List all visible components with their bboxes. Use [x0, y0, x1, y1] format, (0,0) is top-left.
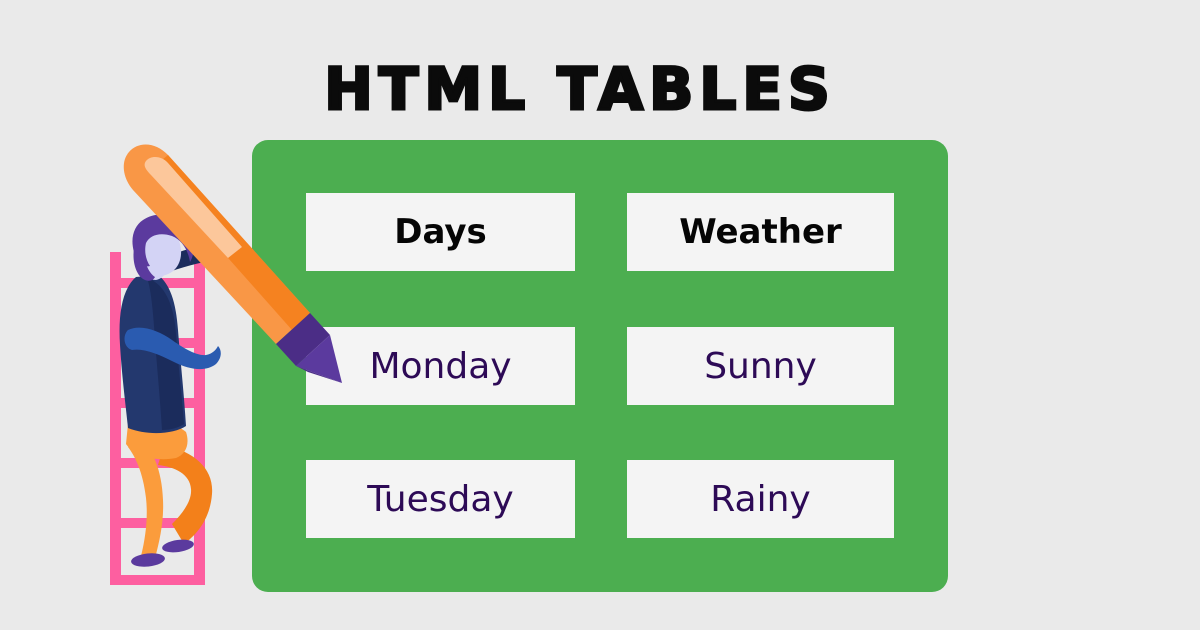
person-upper-arm [146, 242, 244, 280]
table-header-cell-weather: Weather [627, 193, 894, 271]
person-face [139, 226, 181, 276]
table-row: Rainy [627, 460, 894, 538]
person-hair-strand [133, 248, 155, 281]
person-torso [120, 275, 186, 433]
person-shoe-back [161, 538, 194, 554]
pencil-highlight [145, 157, 242, 258]
table-row: Monday [306, 327, 575, 405]
cell-weather-sunny: Sunny [704, 346, 817, 387]
cell-day-tuesday: Tuesday [367, 479, 513, 520]
cell-day-monday: Monday [369, 346, 511, 387]
person-figure [120, 214, 244, 568]
table-header-cell-days: Days [306, 193, 575, 271]
person-hip [126, 421, 188, 460]
header-label-weather: Weather [679, 212, 842, 252]
person-back-leg [158, 445, 212, 544]
person-shoe-front [130, 552, 165, 568]
person-hair [132, 214, 193, 266]
cell-weather-rainy: Rainy [710, 479, 810, 520]
poster-canvas: HTML TABLES Days Weather Monday Sunny Tu… [0, 0, 1200, 630]
html-table-panel: Days Weather Monday Sunny Tuesday Rainy [252, 140, 948, 592]
person-torso-shade [148, 280, 184, 430]
person-front-leg [128, 440, 163, 558]
ladder-icon [110, 252, 205, 585]
page-title: HTML TABLES [0, 58, 1160, 120]
person-lower-arm [125, 328, 221, 369]
table-row: Sunny [627, 327, 894, 405]
header-label-days: Days [394, 212, 487, 252]
person-neck [145, 257, 166, 280]
table-row: Tuesday [306, 460, 575, 538]
